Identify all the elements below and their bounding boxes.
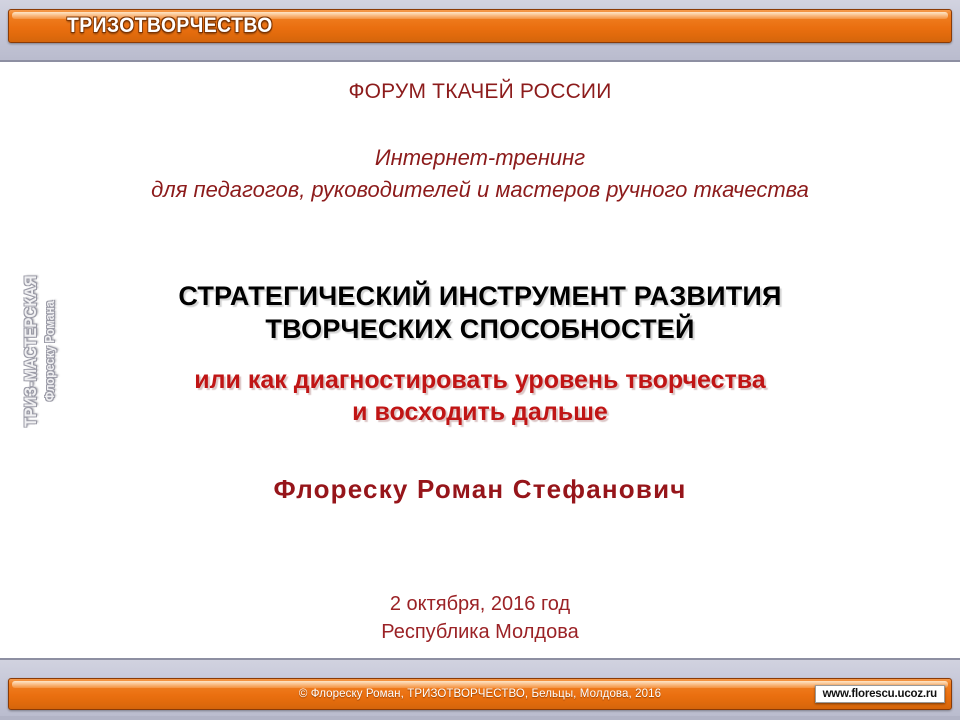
copyright-text: © Флореску Роман, ТРИЗОТВОРЧЕСТВО, Бельц… xyxy=(9,688,951,700)
page-subtitle-red-line-2: и восходить дальше xyxy=(60,396,900,428)
date-place-block: 2 октября, 2016 год Республика Молдова xyxy=(60,590,900,647)
presentation-date: 2 октября, 2016 год xyxy=(60,590,900,618)
author-name: Флореску Роман Стефанович xyxy=(60,474,900,505)
website-url-badge[interactable]: www.florescu.ucoz.ru xyxy=(815,685,945,703)
slide-content: ФОРУМ ТКАЧЕЙ РОССИИ Интернет-тренинг для… xyxy=(60,62,900,658)
page-title-line-1: СТРАТЕГИЧЕСКИЙ ИНСТРУМЕНТ РАЗВИТИЯ xyxy=(60,280,900,313)
bottom-band-divider xyxy=(0,658,960,660)
page-subtitle-red: или как диагностировать уровень творчест… xyxy=(60,364,900,428)
page-subtitle-red-line-1: или как диагностировать уровень творчест… xyxy=(60,364,900,396)
event-name: ФОРУМ ТКАЧЕЙ РОССИИ xyxy=(60,80,900,104)
side-label-line-1: ТРИЗ-МАСТЕРСКАЯ xyxy=(21,225,41,477)
bottom-edge-line xyxy=(0,716,960,720)
event-subtitle-line-1: Интернет-тренинг xyxy=(60,142,900,174)
presentation-place: Республика Молдова xyxy=(60,618,900,646)
footer-ribbon: © Флореску Роман, ТРИЗОТВОРЧЕСТВО, Бельц… xyxy=(8,678,952,710)
page-title: СТРАТЕГИЧЕСКИЙ ИНСТРУМЕНТ РАЗВИТИЯ ТВОРЧ… xyxy=(60,280,900,346)
side-label-line-2: Флореску Романа xyxy=(42,225,57,477)
side-vertical-label: ТРИЗ-МАСТЕРСКАЯ Флореску Романа xyxy=(21,208,57,494)
brand-title: ТРИЗОТВОРЧЕСТВО xyxy=(67,14,273,38)
event-subtitle: Интернет-тренинг для педагогов, руководи… xyxy=(60,142,900,206)
header-ribbon: ТРИЗОТВОРЧЕСТВО xyxy=(8,9,952,43)
presentation-slide: ТРИЗОТВОРЧЕСТВО ТРИЗ-МАСТЕРСКАЯ Флореску… xyxy=(0,0,960,720)
event-subtitle-line-2: для педагогов, руководителей и мастеров … xyxy=(60,174,900,206)
page-title-line-2: ТВОРЧЕСКИХ СПОСОБНОСТЕЙ xyxy=(60,313,900,346)
